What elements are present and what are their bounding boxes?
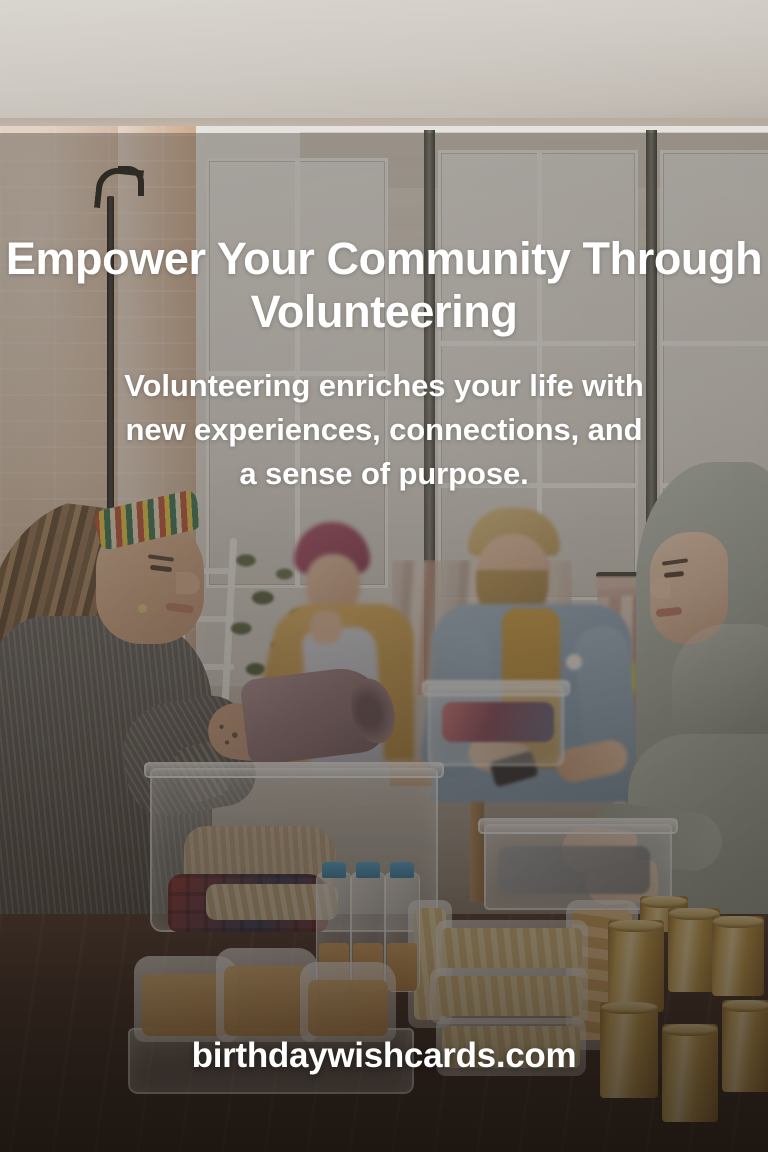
canned-food-6 xyxy=(722,1000,768,1092)
ceiling-area xyxy=(0,0,768,133)
bread-loaf-right xyxy=(300,962,396,1042)
earring xyxy=(138,604,147,613)
canned-food-1 xyxy=(608,920,664,1012)
canned-food-5 xyxy=(662,1024,718,1122)
pasta-bag-bottom xyxy=(436,1018,586,1076)
nose xyxy=(650,578,670,598)
pasta-bag-middle xyxy=(430,968,588,1024)
background-photo xyxy=(0,0,768,1152)
hand xyxy=(310,610,342,644)
clothes-in-back-bin xyxy=(442,702,554,742)
poster-canvas: Empower Your Community Through Volunteer… xyxy=(0,0,768,1152)
canned-food-4 xyxy=(600,1002,658,1098)
nose xyxy=(176,572,200,594)
canned-food-3 xyxy=(712,916,764,996)
clothes-in-right-bin xyxy=(498,846,650,894)
shirt-pin xyxy=(566,654,582,670)
